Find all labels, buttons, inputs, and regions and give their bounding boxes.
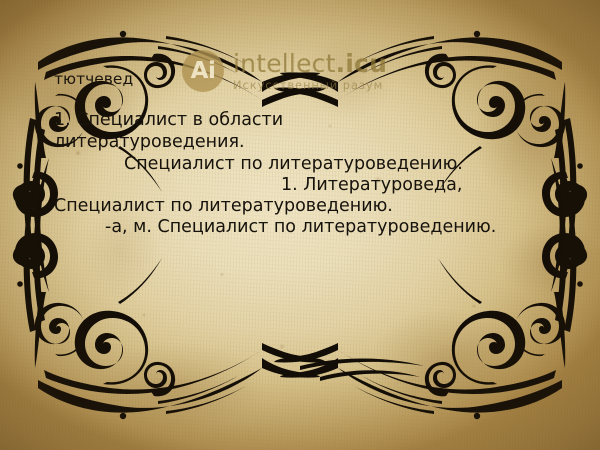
edge-vignette: [0, 0, 600, 450]
parchment-page: Ai intellect.icu Искусственный разум тют…: [0, 0, 600, 450]
